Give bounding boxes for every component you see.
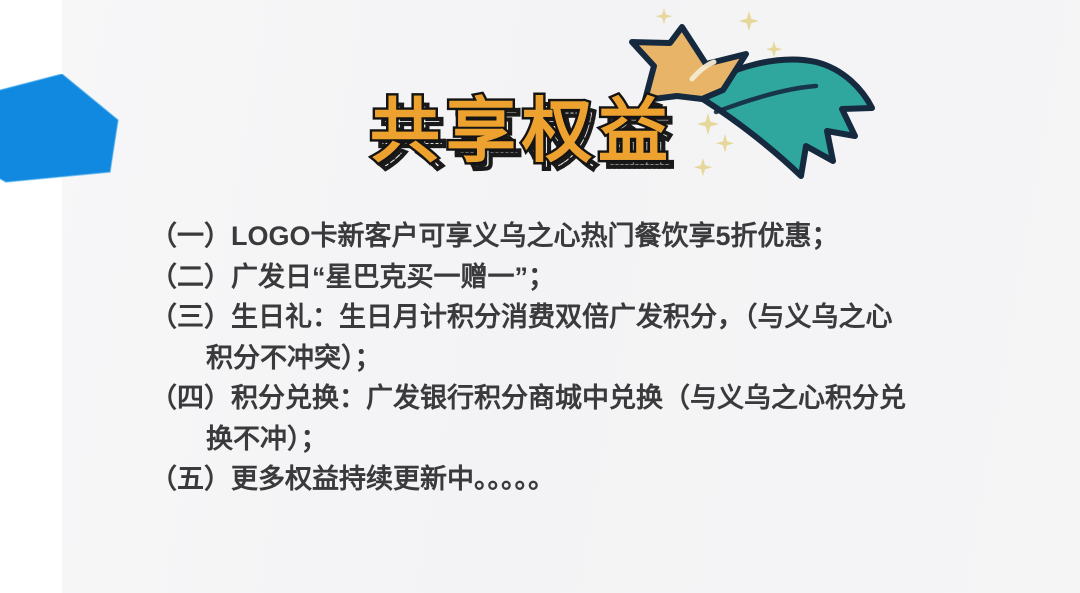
title-fill-layer: 共享权益 — [370, 88, 674, 174]
benefit-line-1: （一）LOGO卡新客户可享义乌之心热门餐饮享5折优惠； — [150, 216, 1050, 257]
blue-polygon-shape — [0, 74, 140, 194]
benefits-list: （一）LOGO卡新客户可享义乌之心热门餐饮享5折优惠； （二）广发日“星巴克买一… — [150, 216, 1050, 500]
benefit-line-2: （二）广发日“星巴克买一赠一”； — [150, 257, 1050, 298]
slide-title: 共享权益 共享权益 共享权益 — [370, 88, 674, 174]
benefit-line-4-continued: 换不冲）； — [150, 419, 1050, 460]
title-text-outline: 共享权益 共享权益 — [370, 88, 674, 174]
benefit-line-4: （四）积分兑换：广发银行积分商城中兑换（与义乌之心积分兑 — [150, 378, 1050, 419]
benefit-line-5: （五）更多权益持续更新中。。。。。 — [150, 459, 1050, 500]
slide-canvas: 共享权益 共享权益 共享权益 （一）LOGO卡新客户可享义乌之心热门餐饮享5折优… — [0, 0, 1080, 593]
benefit-line-3: （三）生日礼：生日月计积分消费双倍广发积分，（与义乌之心 — [150, 297, 1050, 338]
benefit-line-3-continued: 积分不冲突）； — [150, 338, 1050, 379]
